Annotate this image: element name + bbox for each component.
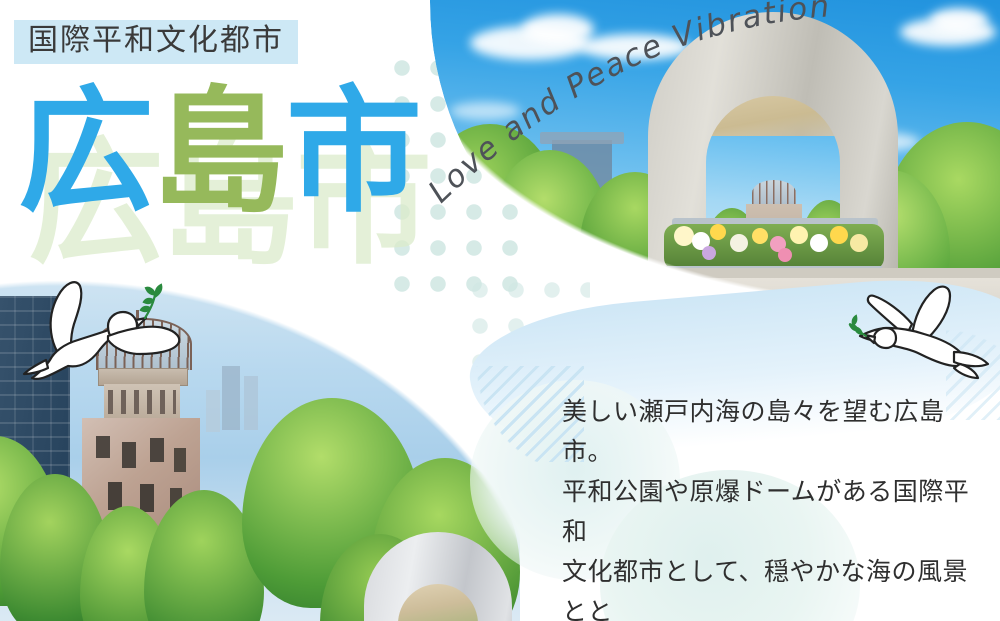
atomic-dome-skeleton <box>752 180 796 206</box>
distant-tower <box>244 376 258 430</box>
flower <box>850 234 868 252</box>
flower <box>710 224 726 240</box>
page-title-group: 広島市 広島市 <box>18 84 448 244</box>
page-subtitle-badge: 国際平和文化都市 <box>14 20 298 64</box>
flower <box>790 226 808 244</box>
cloud-decoration <box>930 8 988 32</box>
dove-icon-left <box>12 274 197 394</box>
cloud-decoration <box>522 14 594 44</box>
title-char-3: 市 <box>286 76 420 228</box>
flower <box>752 228 768 244</box>
title-char-2: 島 <box>152 76 286 228</box>
distant-tower <box>206 390 220 432</box>
ruin-window <box>140 484 154 512</box>
ruin-window <box>150 438 164 462</box>
title-char-1: 広 <box>18 76 152 228</box>
page-title: 広島市 <box>18 84 420 220</box>
flower <box>730 234 748 252</box>
cenotaph-arch-small <box>364 532 512 621</box>
dove-icon-right <box>848 280 998 390</box>
cenotaph-arch <box>648 12 898 292</box>
ruin-window <box>122 442 136 468</box>
lede-line: 美しい瀬戸内海の島々を望む広島市。 <box>562 392 982 472</box>
flower <box>830 226 848 244</box>
lede-line: 文化都市として、穏やかな海の風景とと <box>562 552 982 621</box>
ruin-window <box>174 448 186 472</box>
cloud-decoration <box>450 102 520 120</box>
lede-paragraph: 美しい瀬戸内海の島々を望む広島市。 平和公園や原爆ドームがある国際平和 文化都市… <box>562 392 982 621</box>
building-roof <box>540 132 624 144</box>
flower <box>778 248 792 262</box>
distant-tower <box>222 366 240 430</box>
lede-line: 平和公園や原爆ドームがある国際平和 <box>562 472 982 552</box>
poster-canvas: Love and Peace Vibration 国際平和文化都市 広島市 広島… <box>0 0 1000 621</box>
flower <box>810 234 828 252</box>
ruin-window <box>108 482 122 510</box>
plaza-edge <box>430 268 1000 278</box>
flower <box>674 226 694 246</box>
flower <box>702 246 716 260</box>
ruin-window <box>96 436 110 458</box>
